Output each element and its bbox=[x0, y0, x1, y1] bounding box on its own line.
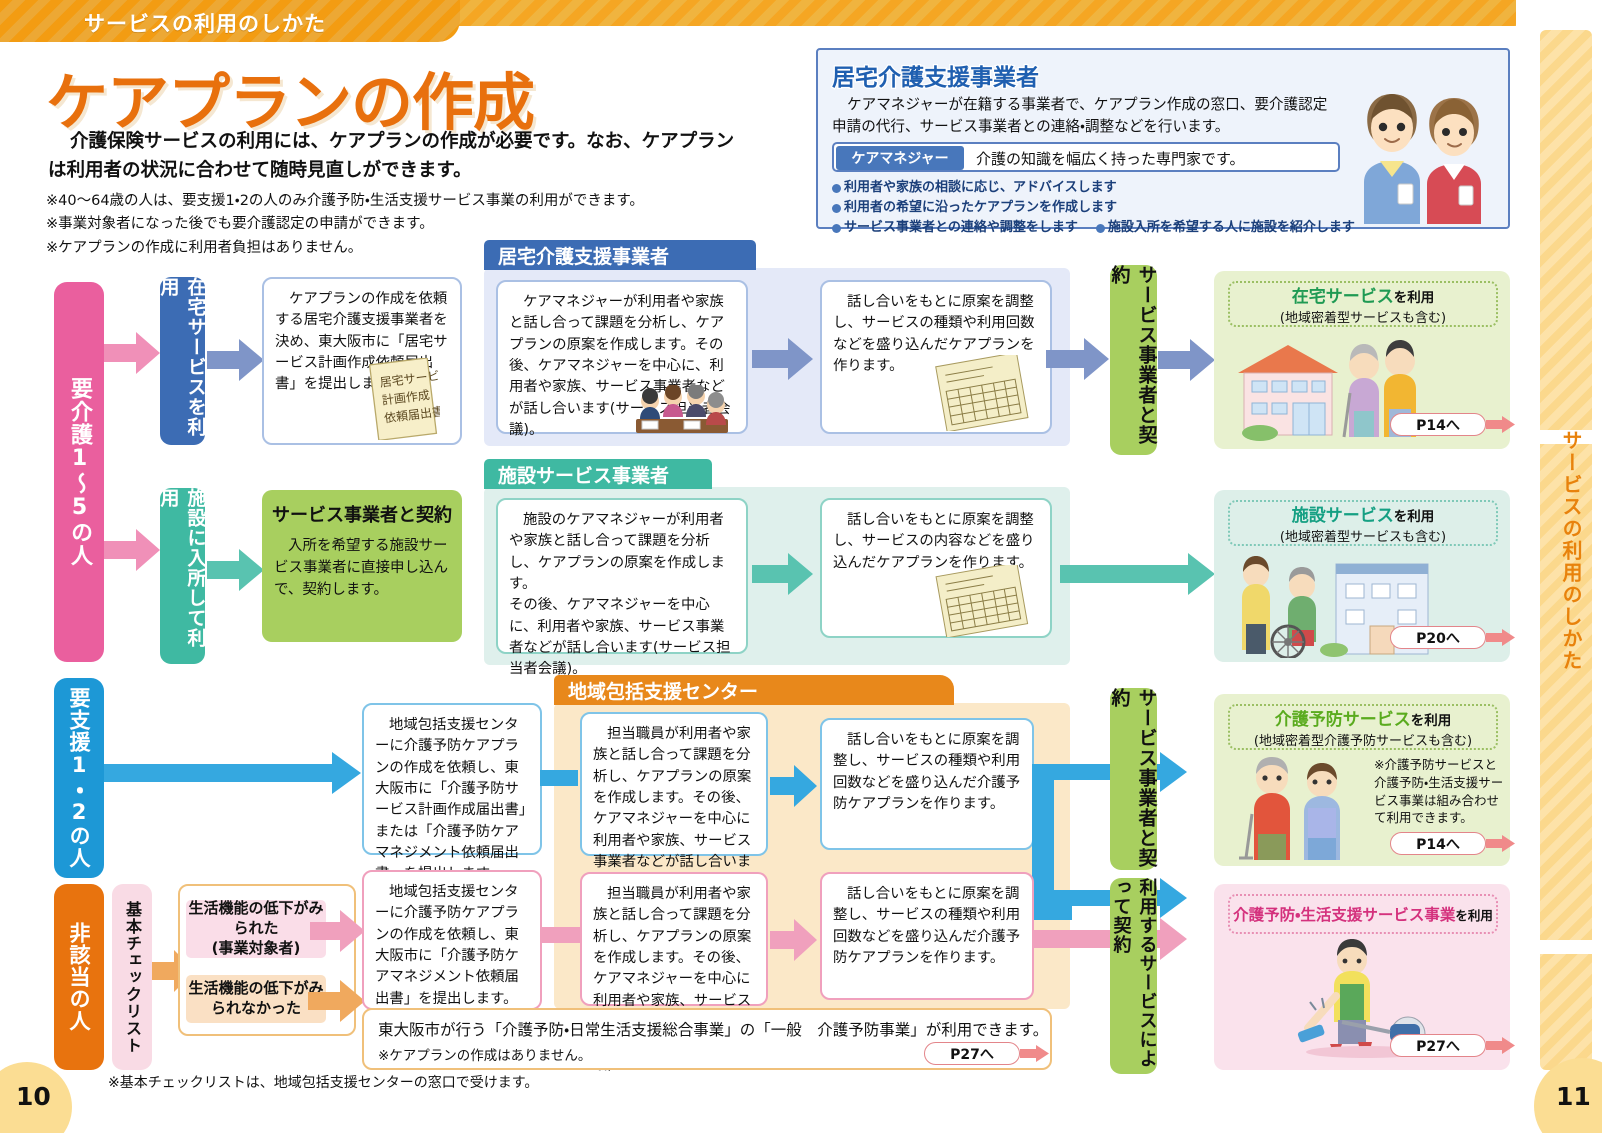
arrow-sky-row3-a bbox=[540, 762, 578, 794]
arrow-pink-row4-c bbox=[540, 918, 580, 952]
row3-outcome-box: 介護予防サービスを利用 (地域密着型介護予防サービスも含む) bbox=[1214, 694, 1510, 866]
row2-contract-box-body: 入所を希望する施設サービス事業者に直接申し込んで、契約します。 bbox=[262, 528, 462, 601]
row3-step3-box: 話し合いをもとに原案を調整し、サービスの種類や利用回数などを盛り込んだ介護予防ケ… bbox=[820, 718, 1034, 850]
lead-paragraph: 介護保険サービスの利用には、ケアプランの作成が必要です。なお、ケアプランは利用者… bbox=[48, 128, 748, 185]
page-root: サービスの利用のしかた サービスの利用のしかた ケアプランの作成 介護保険サービ… bbox=[0, 0, 1602, 1133]
arrow-pink-row4-d bbox=[770, 918, 818, 962]
arrow-teal-row2-b bbox=[752, 552, 814, 596]
care-manager-row: ケアマネジャー 介護の知識を幅広く持った専門家です。 bbox=[832, 142, 1340, 172]
general-prevention-page-link[interactable]: P27へ bbox=[924, 1042, 1020, 1065]
row2-outcome-title: 施設サービスを利用 bbox=[1292, 501, 1435, 526]
arrow-pink-row4-a bbox=[310, 910, 366, 952]
row4-outcome-box: 介護予防・生活支援サービス事業を利用 bbox=[1214, 884, 1510, 1070]
row3-step1-box: 地域包括支援センターに介護予防ケアプランの作成を依頼し、東大阪市に「介護予防サー… bbox=[362, 703, 542, 855]
row2-contract-box-title: サービス事業者と契約 bbox=[262, 490, 462, 528]
row3-step3-text: 話し合いをもとに原案を調整し、サービスの種類や利用回数などを盛り込んだ介護予防ケ… bbox=[833, 730, 1021, 815]
bullet-dot-icon bbox=[832, 184, 841, 193]
row2-page-link-arrow-icon[interactable] bbox=[1486, 629, 1516, 646]
row2-outcome-sub: (地域密着型サービスも含む) bbox=[1280, 526, 1446, 545]
route-facility-service: 施設に入所して利用 bbox=[160, 488, 205, 664]
row1-outcome-sub: (地域密着型サービスも含む) bbox=[1280, 307, 1446, 326]
row4-branch-yes: 生活機能の低下がみられた (事業対象者) bbox=[186, 900, 326, 958]
row4-contract-label: 利用するサービスによって契約 bbox=[1108, 878, 1160, 1074]
bullet-dot-icon bbox=[832, 224, 841, 233]
row3-page-link[interactable]: P14へ bbox=[1390, 832, 1486, 855]
bullet-text: 利用者の希望に沿ったケアプランを作成します bbox=[844, 198, 1117, 218]
bullet-dot-icon bbox=[832, 204, 841, 213]
basic-checklist-label: 基本チェックリスト bbox=[120, 901, 144, 1054]
row1-page-link-arrow-icon[interactable] bbox=[1486, 416, 1516, 433]
bullet-text: 利用者や家族の相談に応じ、アドバイスします bbox=[844, 178, 1117, 198]
note-item: ※40〜64歳の人は、要支援1・2の人のみ介護予防・生活支援サービス事業の利用が… bbox=[46, 190, 746, 213]
row3-contract-label: サービス事業者と契約 bbox=[1107, 688, 1161, 870]
row3-contract-bar: サービス事業者と契約 bbox=[1110, 688, 1157, 870]
basic-checklist-bar: 基本チェックリスト bbox=[112, 884, 152, 1070]
row4-branch-no: 生活機能の低下がみられなかった bbox=[186, 975, 326, 1023]
arrow-blue-row1-d bbox=[1158, 338, 1216, 382]
row3-outcome-sub: (地域密着型介護予防サービスも含む) bbox=[1254, 730, 1472, 749]
row4-step2-box: 担当職員が利用者や家族と話し合って課題を分析し、ケアプランの原案を作成します。そ… bbox=[580, 872, 768, 1006]
care-plan-sheet-icon bbox=[935, 565, 1031, 637]
arrow-sky-row3 bbox=[104, 750, 362, 796]
arrow-blue-row1-b bbox=[752, 337, 814, 381]
row3-step1-text: 地域包括支援センターに介護予防ケアプランの作成を依頼し、東大阪市に「介護予防サー… bbox=[375, 715, 529, 886]
row3-page-link-arrow-icon[interactable] bbox=[1486, 835, 1516, 852]
row1-outcome-title-frame: 在宅サービスを利用 (地域密着型サービスも含む) bbox=[1228, 281, 1498, 327]
arrow-sky-row3-b bbox=[770, 764, 818, 808]
arrow-pink-row1 bbox=[104, 330, 162, 376]
arrow-teal-row2-c bbox=[1060, 552, 1216, 596]
row2-contract-box: サービス事業者と契約 入所を希望する施設サービス事業者に直接申し込んで、契約しま… bbox=[262, 490, 462, 642]
care-manager-description: 介護の知識を幅広く持った専門家です。 bbox=[976, 148, 1245, 169]
row1-page-link[interactable]: P14へ bbox=[1390, 413, 1486, 436]
row1-section-header: 居宅介護支援事業者 bbox=[484, 240, 756, 270]
row4-outcome-title: 介護予防・生活支援サービス事業を利用 bbox=[1233, 903, 1493, 925]
bullet-text: 施設入所を希望する人に施設を紹介します bbox=[1108, 218, 1355, 238]
side-tab-divider-bottom bbox=[1540, 940, 1592, 954]
bullet-dot-icon bbox=[1096, 224, 1105, 233]
row2-section-header-label: 施設サービス事業者 bbox=[498, 461, 669, 488]
general-prevention-note: ※ケアプランの作成はありません。 bbox=[378, 1044, 591, 1064]
bullet-text: サービス事業者との連絡や調整をします bbox=[844, 218, 1078, 238]
row1-outcome-box: 在宅サービスを利用 (地域密着型サービスも含む) bbox=[1214, 271, 1510, 449]
meeting-illustration bbox=[620, 385, 740, 435]
row4-step3-box: 話し合いをもとに原案を調整し、サービスの種類や利用回数などを盛り込んだ介護予防ケ… bbox=[820, 872, 1034, 1000]
top-band-gap bbox=[1516, 0, 1602, 26]
row3-step2-box: 担当職員が利用者や家族と話し合って課題を分析し、ケアプランの原案を作成します。そ… bbox=[580, 712, 768, 856]
category-label: 要支援1・2の人 bbox=[64, 687, 94, 869]
general-prevention-text: 東大阪市が行う「介護予防・日常生活支援総合事業」の「一般 介護予防事業」が利用で… bbox=[378, 1018, 1048, 1040]
arrow-blue-row1-c bbox=[1046, 337, 1110, 381]
row4-page-link[interactable]: P27へ bbox=[1390, 1034, 1486, 1057]
footnote-text: ※基本チェックリストは、地域包括支援センターの窓口で受けます。 bbox=[108, 1072, 538, 1092]
row2-step2-box: 施設のケアマネジャーが利用者や家族と話し合って課題を分析し、ケアプランの原案を作… bbox=[496, 498, 748, 654]
note-item: ※事業対象者になった後でも要介護認定の申請ができます。 bbox=[46, 213, 746, 236]
application-form-icon: 居宅サービス 計画作成 依頼届出書 bbox=[368, 358, 440, 440]
row1-contract-label: サービス事業者と契約 bbox=[1107, 265, 1161, 455]
row3-outcome-title-suffix: を利用 bbox=[1411, 713, 1452, 729]
care-managers-illustration bbox=[1340, 72, 1500, 224]
row4-outcome-title-frame: 介護予防・生活支援サービス事業を利用 bbox=[1228, 894, 1498, 934]
page-number-left: 10 bbox=[16, 1082, 51, 1111]
route-home-service: 在宅サービスを利用 bbox=[160, 277, 205, 445]
row3-section-header-label: 地域包括支援センター bbox=[568, 677, 758, 704]
arrow-teal-row2-a bbox=[207, 548, 265, 592]
row4-outcome-title-suffix: を利用 bbox=[1455, 908, 1493, 923]
row1-section-header-label: 居宅介護支援事業者 bbox=[498, 242, 669, 269]
prevention-service-illustration bbox=[1226, 752, 1374, 864]
row4-step1-text: 地域包括支援センターに介護予防ケアプランの作成を依頼し、東大阪市に「介護予防ケア… bbox=[375, 882, 529, 1010]
row2-outcome-title-frame: 施設サービスを利用 (地域密着型サービスも含む) bbox=[1228, 500, 1498, 546]
row3-section-header: 地域包括支援センター bbox=[554, 675, 954, 705]
row2-outcome-title-strong: 施設サービス bbox=[1292, 506, 1394, 526]
side-index-tab-label: サービスの利用のしかた bbox=[1557, 430, 1586, 672]
row1-contract-bar: サービス事業者と契約 bbox=[1110, 265, 1157, 455]
row4-outcome-title-strong: 介護予防・生活支援サービス事業 bbox=[1233, 906, 1455, 924]
row4-step1-box: 地域包括支援センターに介護予防ケアプランの作成を依頼し、東大阪市に「介護予防ケア… bbox=[362, 870, 542, 1010]
care-manager-tag: ケアマネジャー bbox=[836, 146, 964, 170]
category-label: 非該当の人 bbox=[64, 922, 94, 1032]
general-prevention-box: 東大阪市が行う「介護予防・日常生活支援総合事業」の「一般 介護予防事業」が利用で… bbox=[362, 1008, 1052, 1070]
section-tab-label: サービスの利用のしかた bbox=[84, 8, 326, 38]
row2-outcome-title-suffix: を利用 bbox=[1394, 509, 1435, 525]
arrow-pink-row2 bbox=[104, 527, 162, 573]
category-support-need-1-2: 要支援1・2の人 bbox=[54, 678, 104, 878]
bullet-item: 施設入所を希望する人に施設を紹介します bbox=[1096, 218, 1355, 238]
arrow-blue-row1-a bbox=[207, 338, 265, 382]
row4-page-link-arrow-icon[interactable] bbox=[1486, 1037, 1516, 1054]
row2-outcome-box: 施設サービスを利用 (地域密着型サービスも含む) bbox=[1214, 490, 1510, 662]
row2-section-header: 施設サービス事業者 bbox=[484, 459, 712, 489]
category-label: 要介護1〜5の人 bbox=[63, 377, 95, 567]
info-panel-title: 居宅介護支援事業者 bbox=[832, 58, 1039, 92]
row1-outcome-title-strong: 在宅サービス bbox=[1292, 287, 1394, 307]
row2-step2-text: 施設のケアマネジャーが利用者や家族と話し合って課題を分析し、ケアプランの原案を作… bbox=[509, 510, 735, 681]
info-panel-body: ケアマネジャーが在籍する事業者で、ケアプラン作成の窓口、要介護認定申請の代行、サ… bbox=[832, 94, 1340, 138]
care-plan-sheet-icon bbox=[935, 355, 1031, 431]
route-label: 施設に入所して利用 bbox=[156, 488, 210, 664]
row3-outcome-title: 介護予防サービスを利用 bbox=[1275, 705, 1452, 730]
page-number-right: 11 bbox=[1556, 1082, 1591, 1111]
arrow-orange-row4-b bbox=[308, 980, 366, 1022]
category-not-applicable: 非該当の人 bbox=[54, 884, 104, 1070]
row3-outcome-title-strong: 介護予防サービス bbox=[1275, 710, 1411, 730]
row1-outcome-title: 在宅サービスを利用 bbox=[1292, 282, 1435, 307]
category-care-need-1-5: 要介護1〜5の人 bbox=[54, 282, 104, 662]
general-prevention-page-link-arrow-icon[interactable] bbox=[1020, 1045, 1050, 1062]
row3-outcome-title-frame: 介護予防サービスを利用 (地域密着型介護予防サービスも含む) bbox=[1228, 704, 1498, 750]
row4-contract-bar: 利用するサービスによって契約 bbox=[1110, 878, 1157, 1074]
bullet-item: サービス事業者との連絡や調整をします bbox=[832, 218, 1078, 238]
row2-page-link[interactable]: P20へ bbox=[1390, 626, 1486, 649]
row1-outcome-title-suffix: を利用 bbox=[1394, 290, 1435, 306]
row4-step3-text: 話し合いをもとに原案を調整し、サービスの種類や利用回数などを盛り込んだ介護予防ケ… bbox=[833, 884, 1021, 969]
route-label: 在宅サービスを利用 bbox=[156, 277, 210, 445]
info-panel: 居宅介護支援事業者 ケアマネジャーが在籍する事業者で、ケアプラン作成の窓口、要介… bbox=[816, 48, 1510, 229]
row3-outcome-note: ※介護予防サービスと介護予防・生活支援サービス事業は組み合わせて利用できます。 bbox=[1374, 756, 1506, 827]
